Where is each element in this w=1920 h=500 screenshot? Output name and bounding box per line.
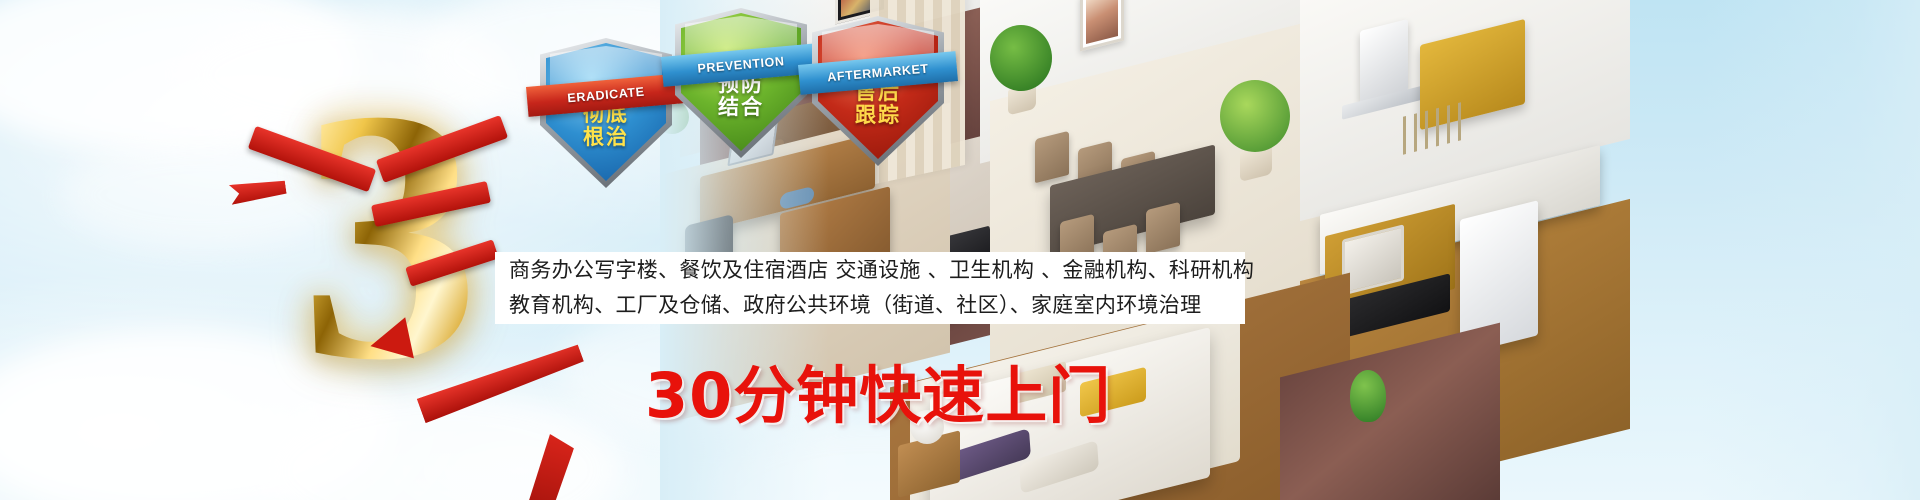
arrow-tail [417, 341, 586, 424]
hero-number-three: 3 [230, 85, 550, 415]
scope-line-2: 教育机构、工厂及仓储、政府公共环境（街道、社区）、家庭室内环境治理 [509, 288, 1231, 323]
badge-cn-line2: 结合 [675, 97, 807, 120]
headline-text: 30分钟快速上门 [645, 345, 1111, 435]
promo-banner: 3 彻底 根治 ERADICATE 预防 [0, 0, 1920, 500]
potted-tree [1220, 80, 1290, 152]
badge-aftermarket[interactable]: 售后 跟踪 AFTERMARKET [812, 16, 944, 166]
service-scope-panel: 商务办公写字楼、餐饮及住宿酒店 交通设施 、卫生机构 、金融机构、科研机构 教育… [495, 252, 1245, 324]
service-promise-badges: 彻底 根治 ERADICATE 预防 结合 PREVENTION 售后 跟踪 A… [520, 0, 980, 200]
scope-line-1: 商务办公写字楼、餐饮及住宿酒店 交通设施 、卫生机构 、金融机构、科研机构 [509, 253, 1231, 288]
dining-chair [1146, 202, 1180, 254]
badge-prevention[interactable]: 预防 结合 PREVENTION [675, 8, 807, 158]
badge-cn-line2: 根治 [540, 127, 672, 150]
dining-chair [1035, 131, 1069, 183]
badge-eradicate[interactable]: 彻底 根治 ERADICATE [540, 38, 672, 188]
arrow-head [366, 317, 414, 366]
potted-plant [1350, 370, 1386, 422]
badge-cn-line2: 跟踪 [812, 105, 944, 128]
potted-tree [990, 25, 1052, 91]
